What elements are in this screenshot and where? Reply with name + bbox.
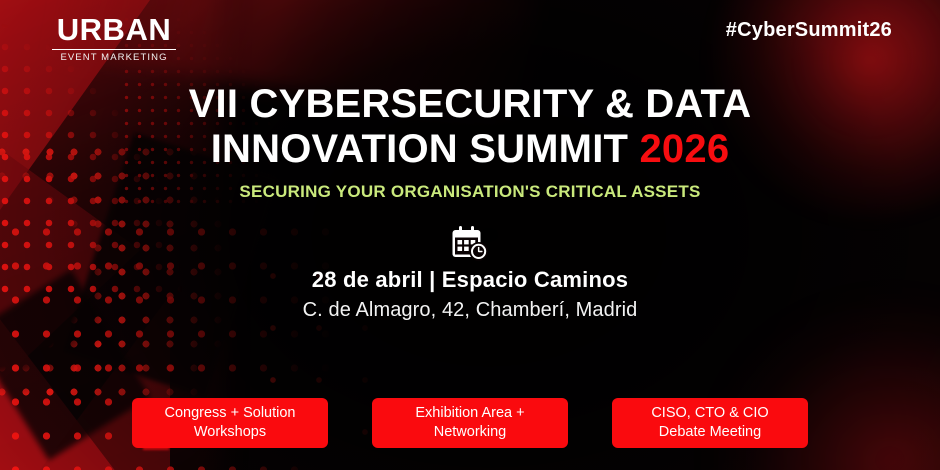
pill-exhibition-line1: Exhibition Area + xyxy=(415,405,524,421)
pill-ciso-debate[interactable]: CISO, CTO & CIO Debate Meeting xyxy=(612,398,808,448)
calendar-clock-icon xyxy=(450,226,490,262)
program-pill-row: Congress + Solution Workshops Exhibition… xyxy=(0,398,940,448)
headline-block: VII CYBERSECURITY & DATA INNOVATION SUMM… xyxy=(0,82,940,172)
pill-congress-line2: Workshops xyxy=(194,424,266,440)
logo-wordmark: URBAN xyxy=(52,14,176,45)
venue-address: C. de Almagro, 42, Chamberí, Madrid xyxy=(0,299,940,322)
headline-line-2: INNOVATION SUMMIT 2026 xyxy=(0,127,940,172)
pill-debate-line1: CISO, CTO & CIO xyxy=(651,405,768,421)
venue-date-place: 28 de abril | Espacio Caminos xyxy=(0,266,940,294)
pill-congress-workshops[interactable]: Congress + Solution Workshops xyxy=(132,398,328,448)
headline-year: 2026 xyxy=(639,127,729,171)
event-banner: URBAN EVENT MARKETING #CyberSummit26 VII… xyxy=(0,0,940,470)
calendar-icon-wrapper xyxy=(0,226,940,262)
logo-divider xyxy=(52,49,176,50)
urban-logo[interactable]: URBAN EVENT MARKETING xyxy=(52,14,176,63)
pill-exhibition-networking[interactable]: Exhibition Area + Networking xyxy=(372,398,568,448)
headline-line-1: VII CYBERSECURITY & DATA xyxy=(0,82,940,127)
event-hashtag: #CyberSummit26 xyxy=(726,19,892,42)
headline-line-2-text: INNOVATION SUMMIT xyxy=(211,127,628,171)
pill-exhibition-line2: Networking xyxy=(434,424,507,440)
pill-debate-line2: Debate Meeting xyxy=(659,424,761,440)
pill-congress-line1: Congress + Solution xyxy=(165,405,296,421)
venue-block: 28 de abril | Espacio Caminos C. de Alma… xyxy=(0,266,940,322)
logo-tagline: EVENT MARKETING xyxy=(52,53,176,63)
banner-content: URBAN EVENT MARKETING #CyberSummit26 VII… xyxy=(0,0,940,470)
event-subtitle: SECURING YOUR ORGANISATION'S CRITICAL AS… xyxy=(0,182,940,202)
